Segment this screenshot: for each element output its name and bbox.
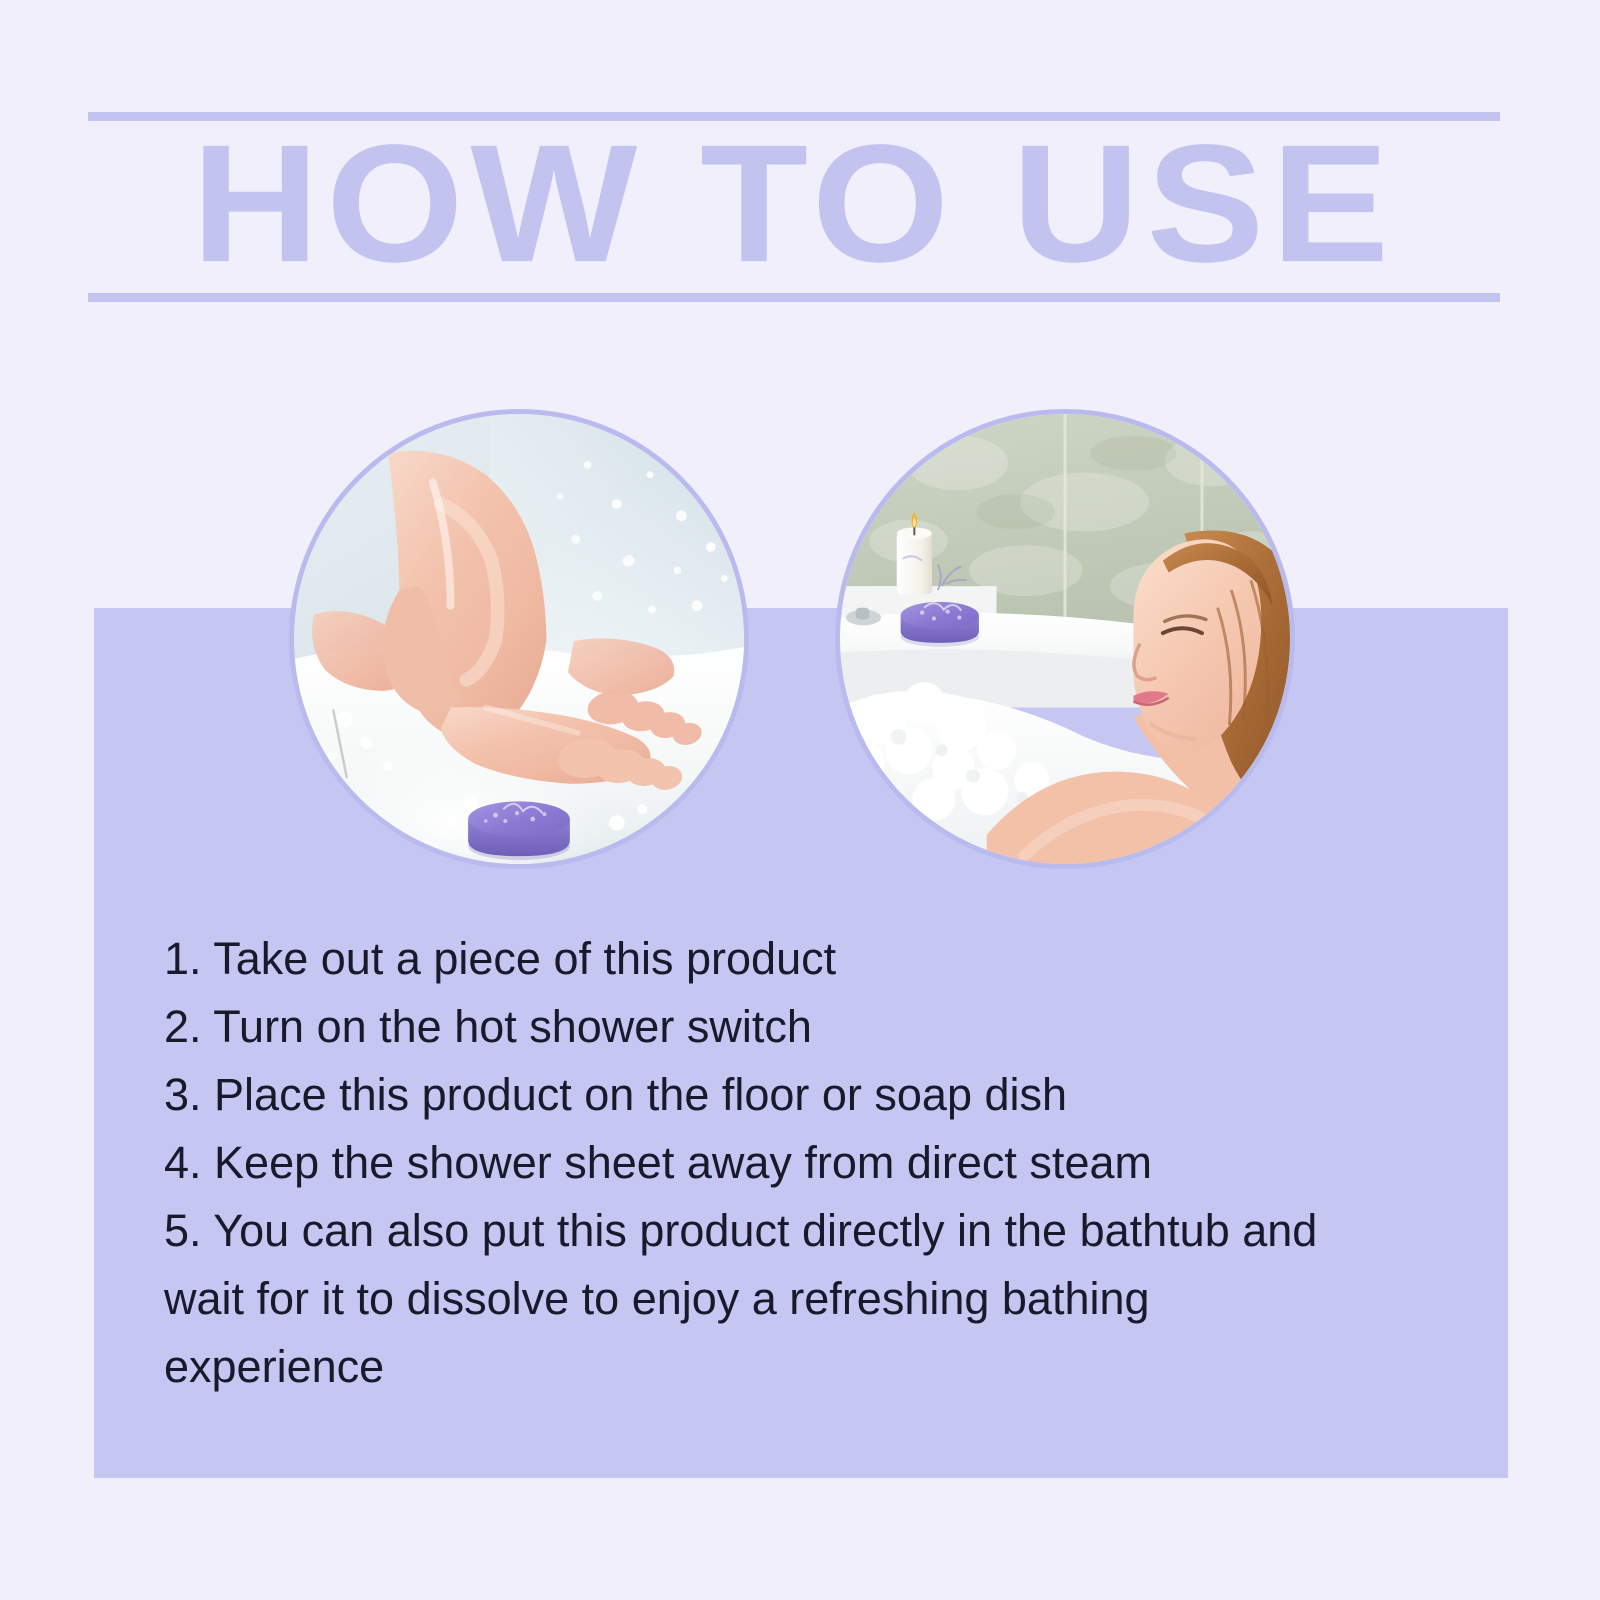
page-title: HOW TO USE (88, 125, 1500, 283)
list-item: 1. Take out a piece of this product (164, 925, 1344, 993)
list-item: 3. Place this product on the floor or so… (164, 1061, 1344, 1129)
how-to-use-infographic: HOW TO USE (0, 0, 1600, 1600)
instructions-list: 1. Take out a piece of this product 2. T… (164, 925, 1344, 1401)
shower-tablet-icon (901, 602, 979, 647)
shower-tablet-icon (468, 801, 570, 860)
page-title-text: HOW TO USE (192, 120, 1396, 287)
bath-photo-graphic (840, 414, 1290, 864)
title-divider-bottom (88, 293, 1500, 302)
shower-photo (289, 409, 749, 869)
list-item: 2. Turn on the hot shower switch (164, 993, 1344, 1061)
header: HOW TO USE (88, 112, 1500, 302)
list-item: 4. Keep the shower sheet away from direc… (164, 1129, 1344, 1197)
bath-photo (835, 409, 1295, 869)
list-item: 5. You can also put this product directl… (164, 1197, 1344, 1401)
shower-photo-graphic (294, 414, 744, 864)
